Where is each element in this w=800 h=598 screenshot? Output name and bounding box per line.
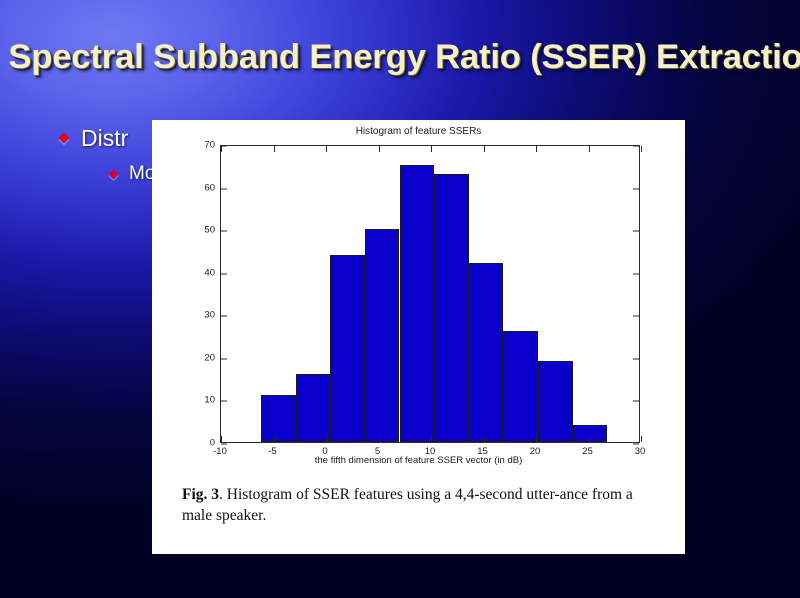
slide-canvas: Spectral Subband Energy Ratio (SSER) Ext… — [0, 0, 800, 598]
x-tick-mark — [589, 146, 590, 152]
x-tick-mark — [641, 436, 642, 442]
y-tick-mark — [633, 358, 639, 359]
y-tick-mark — [633, 231, 639, 232]
page-title: Spectral Subband Energy Ratio (SSER) Ext… — [8, 38, 791, 77]
bar-series — [221, 146, 639, 442]
y-tick-mark — [221, 401, 227, 402]
y-tick-label: 30 — [189, 310, 215, 321]
bullet-item-label: Distr — [81, 126, 128, 151]
y-tick-mark — [633, 146, 639, 147]
y-tick-label: 60 — [189, 182, 215, 193]
y-tick-label: 40 — [189, 267, 215, 278]
x-tick-mark — [536, 436, 537, 442]
y-tick-mark — [633, 401, 639, 402]
x-tick-mark — [274, 436, 275, 442]
figure-caption-prefix: Fig. 3 — [182, 486, 219, 503]
x-tick-mark — [431, 436, 432, 442]
x-tick-mark — [431, 146, 432, 152]
x-tick-mark — [536, 146, 537, 152]
y-tick-label: 70 — [189, 140, 215, 151]
histogram-bar — [400, 165, 435, 442]
x-tick-mark — [641, 146, 642, 152]
plot-area — [220, 145, 640, 443]
histogram-bar — [365, 229, 400, 442]
histogram-bar — [469, 263, 504, 442]
x-tick-mark — [484, 146, 485, 152]
histogram-bar — [330, 255, 365, 442]
y-tick-mark — [221, 273, 227, 274]
y-tick-mark — [633, 188, 639, 189]
bullet-item-level2: Mo — [110, 164, 155, 185]
histogram-bar — [296, 374, 331, 442]
bullet-item-level1: Distr — [60, 126, 128, 151]
y-tick-label: 10 — [189, 395, 215, 406]
histogram-bar — [434, 174, 469, 442]
y-tick-mark — [221, 358, 227, 359]
x-tick-mark — [326, 146, 327, 152]
y-tick-label: 0 — [189, 438, 215, 449]
y-tick-label: 50 — [189, 225, 215, 236]
x-tick-mark — [379, 436, 380, 442]
x-tick-mark — [379, 146, 380, 152]
histogram-bar — [573, 425, 608, 442]
y-tick-label: 20 — [189, 352, 215, 363]
histogram-bar — [538, 361, 573, 442]
figure-caption-line1: . Histogram of SSER features using a 4,4… — [219, 486, 560, 503]
figure-panel: Histogram of feature SSERs 0102030405060… — [152, 120, 685, 554]
red-diamond-bullet-icon — [58, 132, 69, 143]
y-tick-mark — [221, 316, 227, 317]
chart-title: Histogram of feature SSERs — [152, 126, 685, 137]
histogram-chart: Histogram of feature SSERs 0102030405060… — [152, 120, 685, 472]
y-tick-mark — [633, 316, 639, 317]
x-tick-mark — [274, 146, 275, 152]
y-tick-mark — [221, 231, 227, 232]
x-tick-mark — [589, 436, 590, 442]
y-tick-mark — [221, 188, 227, 189]
histogram-bar — [261, 395, 296, 442]
y-tick-mark — [633, 273, 639, 274]
figure-caption: Fig. 3. Histogram of SSER features using… — [182, 485, 662, 527]
red-diamond-bullet-icon — [109, 170, 119, 180]
x-tick-mark — [221, 436, 222, 442]
x-axis-label: the fifth dimension of feature SSER vect… — [152, 455, 685, 466]
x-tick-mark — [326, 436, 327, 442]
x-tick-mark — [484, 436, 485, 442]
histogram-bar — [503, 331, 538, 442]
x-tick-mark — [221, 146, 222, 152]
